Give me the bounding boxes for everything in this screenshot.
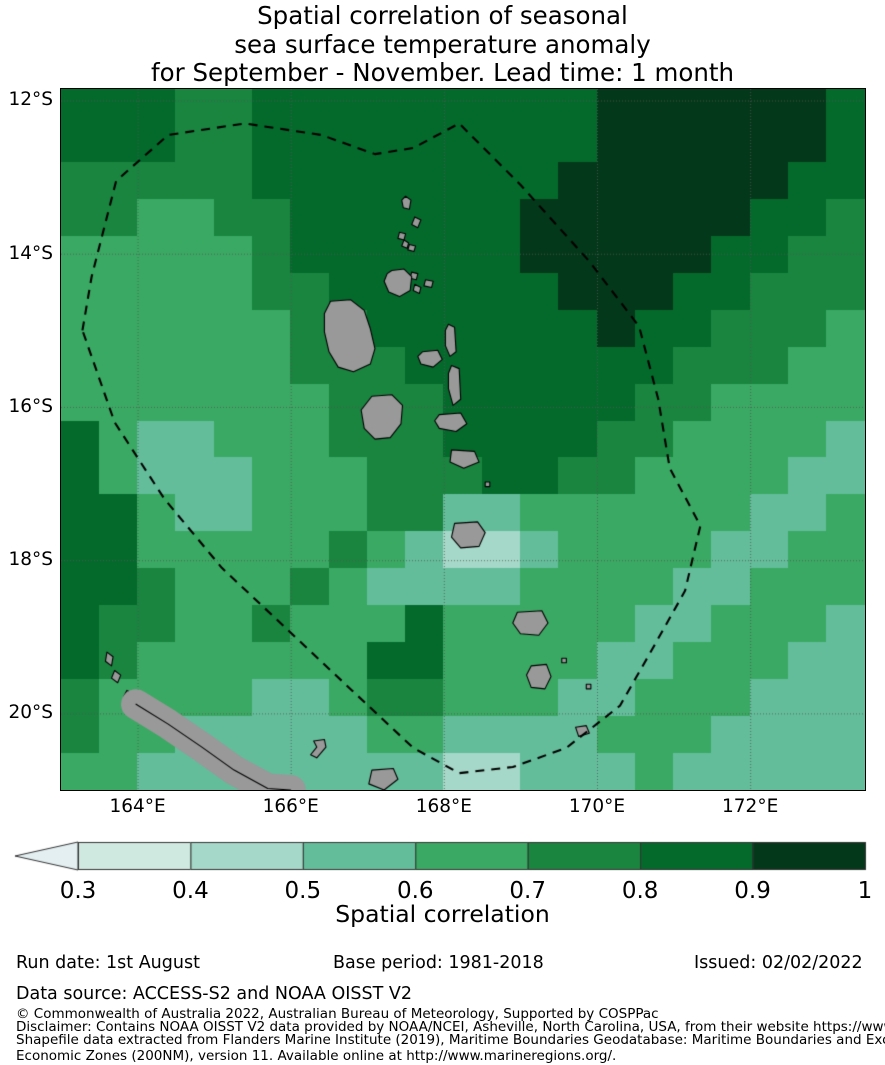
x-tick-label: 168°E <box>384 796 504 817</box>
metadata-row: Run date: 1st August Base period: 1981-2… <box>0 953 885 979</box>
y-tick-label: 12°S <box>0 89 53 110</box>
y-tick-label: 14°S <box>0 243 53 264</box>
title-line-3: for September - November. Lead time: 1 m… <box>0 59 885 88</box>
map-plot-area[interactable] <box>61 89 865 790</box>
y-tick-label: 18°S <box>0 549 53 570</box>
base-period: Base period: 1981-2018 <box>333 953 544 973</box>
colorbar-title: Spatial correlation <box>0 900 885 928</box>
page-title: Spatial correlation of seasonal sea surf… <box>0 0 885 88</box>
x-tick-label: 164°E <box>78 796 198 817</box>
y-tick-label: 16°S <box>0 396 53 417</box>
sst-correlation-heatmap[interactable] <box>60 88 866 791</box>
colorbar-panel: 0.30.40.50.60.70.80.91 Spatial correlati… <box>0 838 885 938</box>
disclaimer-line-2: Shapefile data extracted from Flanders M… <box>16 1032 885 1048</box>
x-tick-label: 170°E <box>537 796 657 817</box>
title-line-1: Spatial correlation of seasonal <box>0 2 885 31</box>
run-date: Run date: 1st August <box>16 953 200 973</box>
title-line-2: sea surface temperature anomaly <box>0 31 885 60</box>
colorbar[interactable] <box>0 838 885 878</box>
x-tick-label: 172°E <box>690 796 810 817</box>
y-tick-label: 20°S <box>0 702 53 723</box>
disclaimer-line-3: Economic Zones (200NM), version 11. Avai… <box>16 1048 616 1064</box>
data-source: Data source: ACCESS-S2 and NOAA OISST V2 <box>16 984 412 1004</box>
issued-date: Issued: 02/02/2022 <box>694 953 863 973</box>
x-tick-label: 166°E <box>231 796 351 817</box>
